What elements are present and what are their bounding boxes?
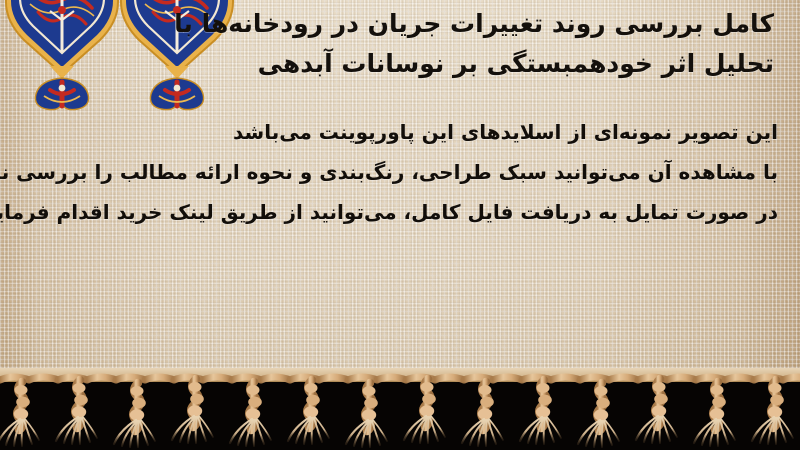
slide-canvas: کامل بررسی روند تغییرات جریان در رودخانه… — [0, 0, 800, 450]
body-text: این تصویر نمونه‌ای از اسلایدهای این پاور… — [18, 112, 778, 232]
page-title: کامل بررسی روند تغییرات جریان در رودخانه… — [202, 4, 774, 84]
carpet-fringe-band — [0, 368, 800, 450]
carpet-tassels — [0, 368, 800, 450]
body-line-2: با مشاهده آن می‌توانید سبک طراحی، رنگ‌بن… — [18, 152, 778, 192]
body-line-1: این تصویر نمونه‌ای از اسلایدهای این پاور… — [18, 112, 778, 152]
title-line-2: تحلیل اثر خودهمبستگی بر نوسانات آبدهی — [202, 44, 774, 84]
body-line-3: در صورت تمایل به دریافت فایل کامل، می‌تو… — [18, 192, 778, 232]
title-line-1: کامل بررسی روند تغییرات جریان در رودخانه… — [202, 4, 774, 44]
